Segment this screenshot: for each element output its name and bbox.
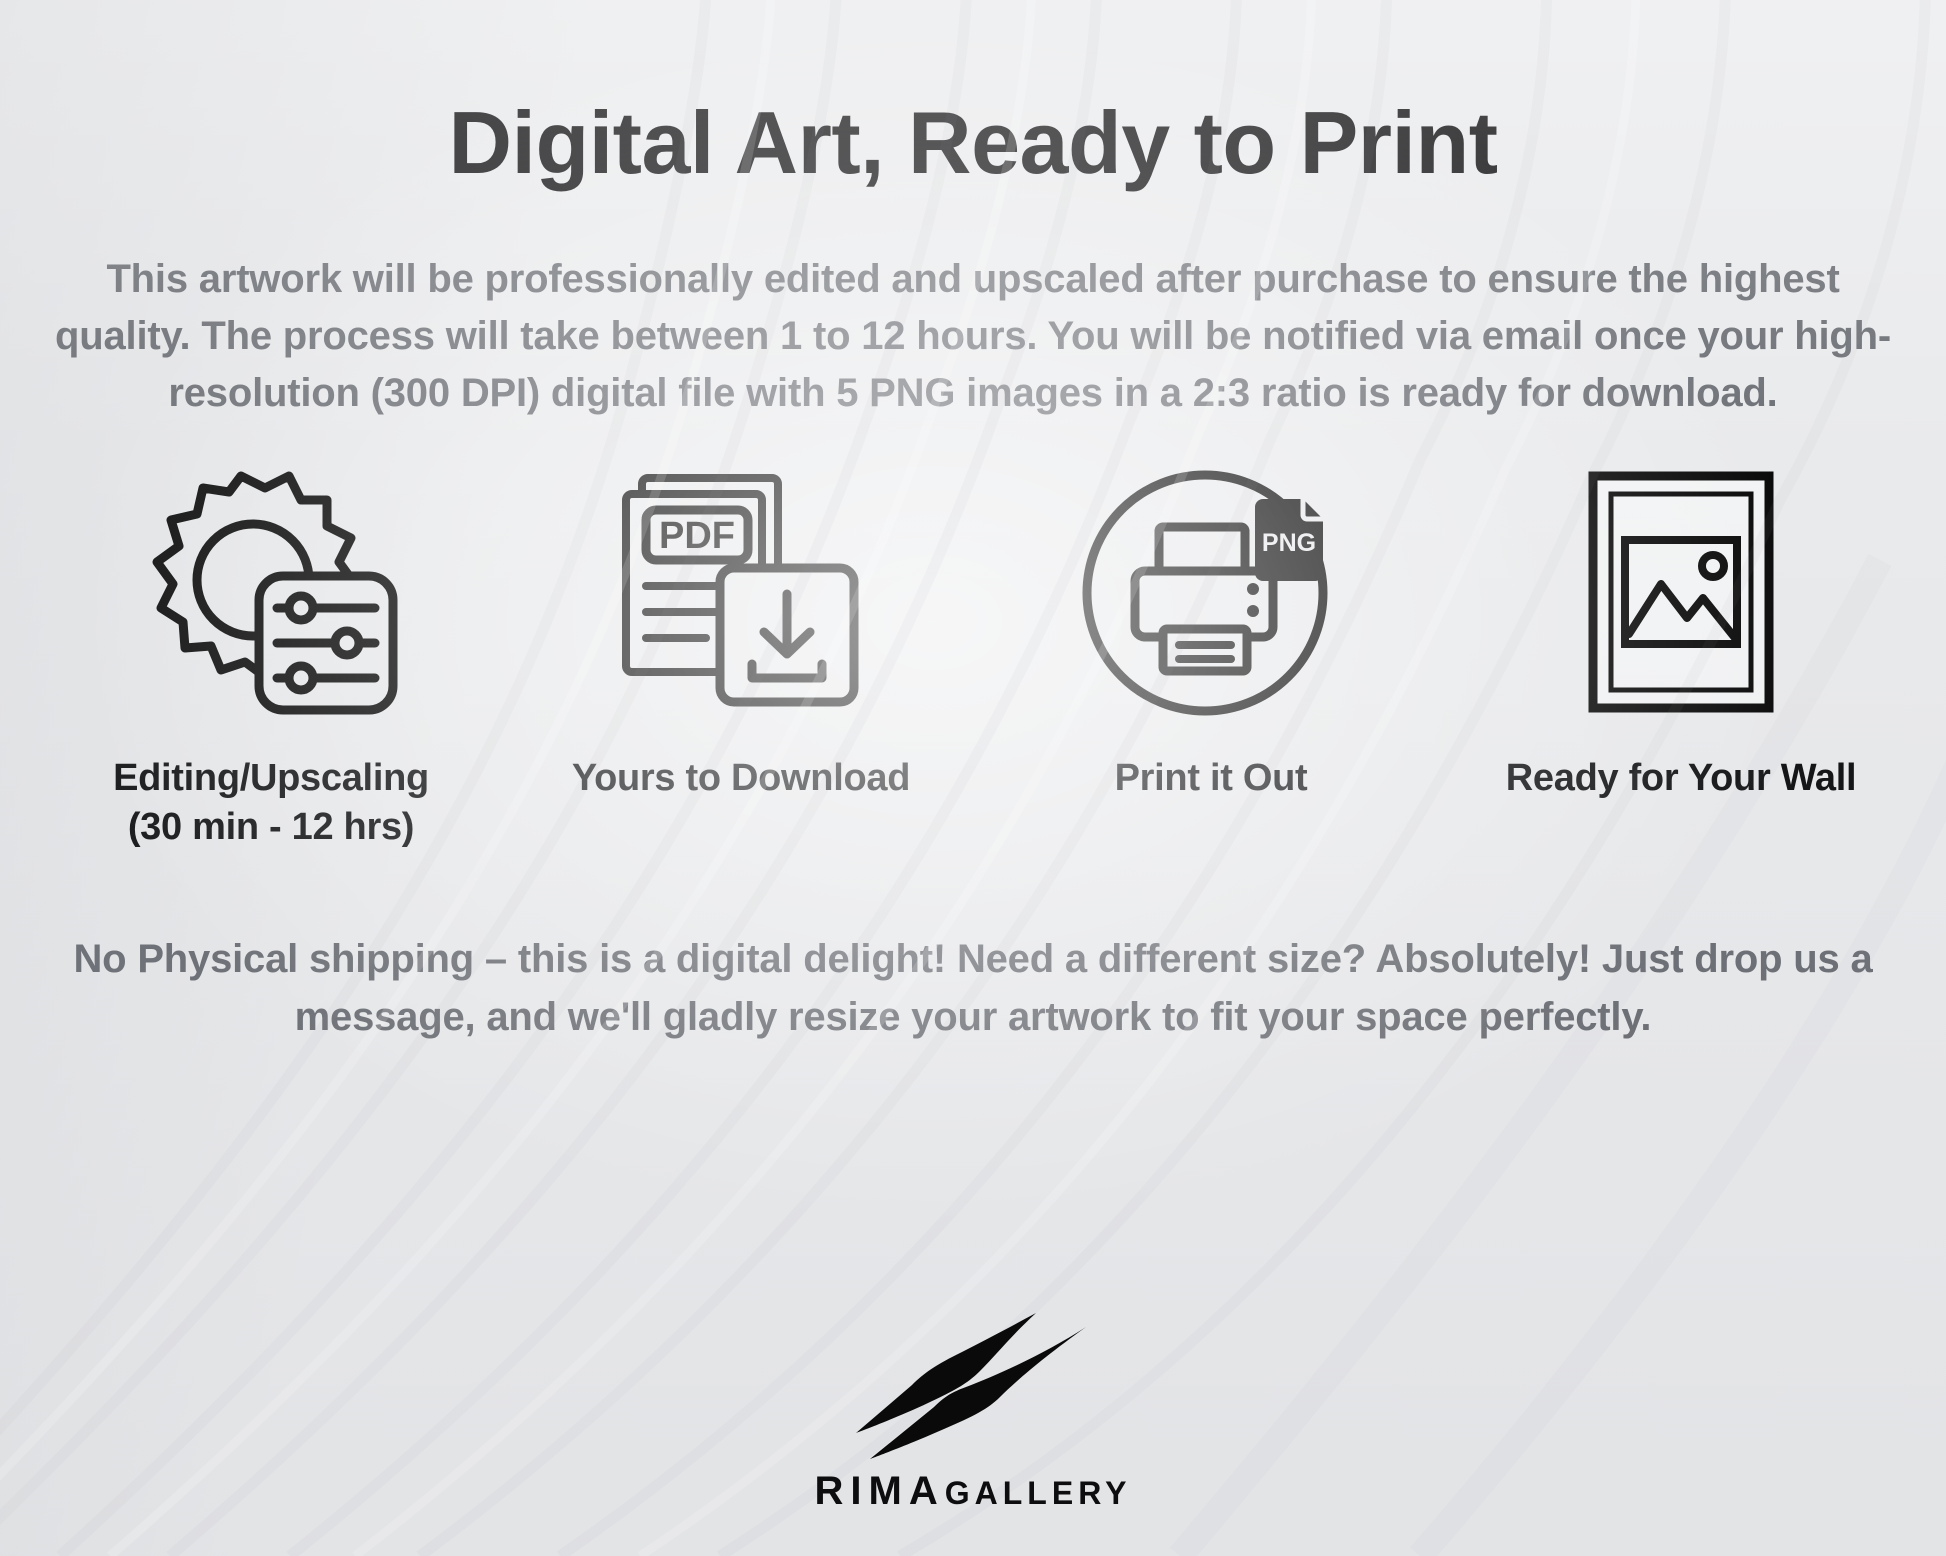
png-badge-label: PNG <box>1262 529 1316 557</box>
feature-label-download: Yours to Download <box>572 754 910 803</box>
feature-label-print: Print it Out <box>1115 754 1308 803</box>
feature-item-download: PDF Yours to Download <box>506 458 976 803</box>
page-title: Digital Art, Ready to Print <box>36 0 1910 189</box>
pdf-download-icon: PDF <box>616 458 866 728</box>
closing-paragraph: No Physical shipping – this is a digital… <box>43 930 1903 1046</box>
poster-canvas: Digital Art, Ready to Print This artwork… <box>0 0 1946 1556</box>
framed-picture-icon <box>1581 458 1781 728</box>
logo-name-primary: RIMA <box>815 1469 945 1514</box>
feature-label-line-2: (30 min - 12 hrs) <box>128 806 414 848</box>
feature-row: Editing/Upscaling (30 min - 12 hrs) PDF <box>36 458 1916 853</box>
feature-label-wall: Ready for Your Wall <box>1506 754 1856 803</box>
feature-item-wall: Ready for Your Wall <box>1446 458 1916 803</box>
feature-item-print: PNG Print it Out <box>976 458 1446 803</box>
logo-name-secondary: GALLERY <box>945 1475 1132 1512</box>
feature-label-editing-upscaling: Editing/Upscaling (30 min - 12 hrs) <box>113 754 429 853</box>
logo-wordmark: RIMA GALLERY <box>815 1469 1132 1514</box>
intro-paragraph: This artwork will be professionally edit… <box>53 189 1893 421</box>
pdf-badge-label: PDF <box>659 515 735 557</box>
gear-sliders-icon <box>141 458 401 728</box>
feature-label-line-1: Editing/Upscaling <box>113 757 429 799</box>
printer-circle-icon: PNG <box>1081 458 1341 728</box>
feature-item-editing-upscaling: Editing/Upscaling (30 min - 12 hrs) <box>36 458 506 853</box>
brand-logo: RIMA GALLERY <box>0 1313 1946 1514</box>
rima-swoosh-mark-icon <box>848 1313 1098 1463</box>
